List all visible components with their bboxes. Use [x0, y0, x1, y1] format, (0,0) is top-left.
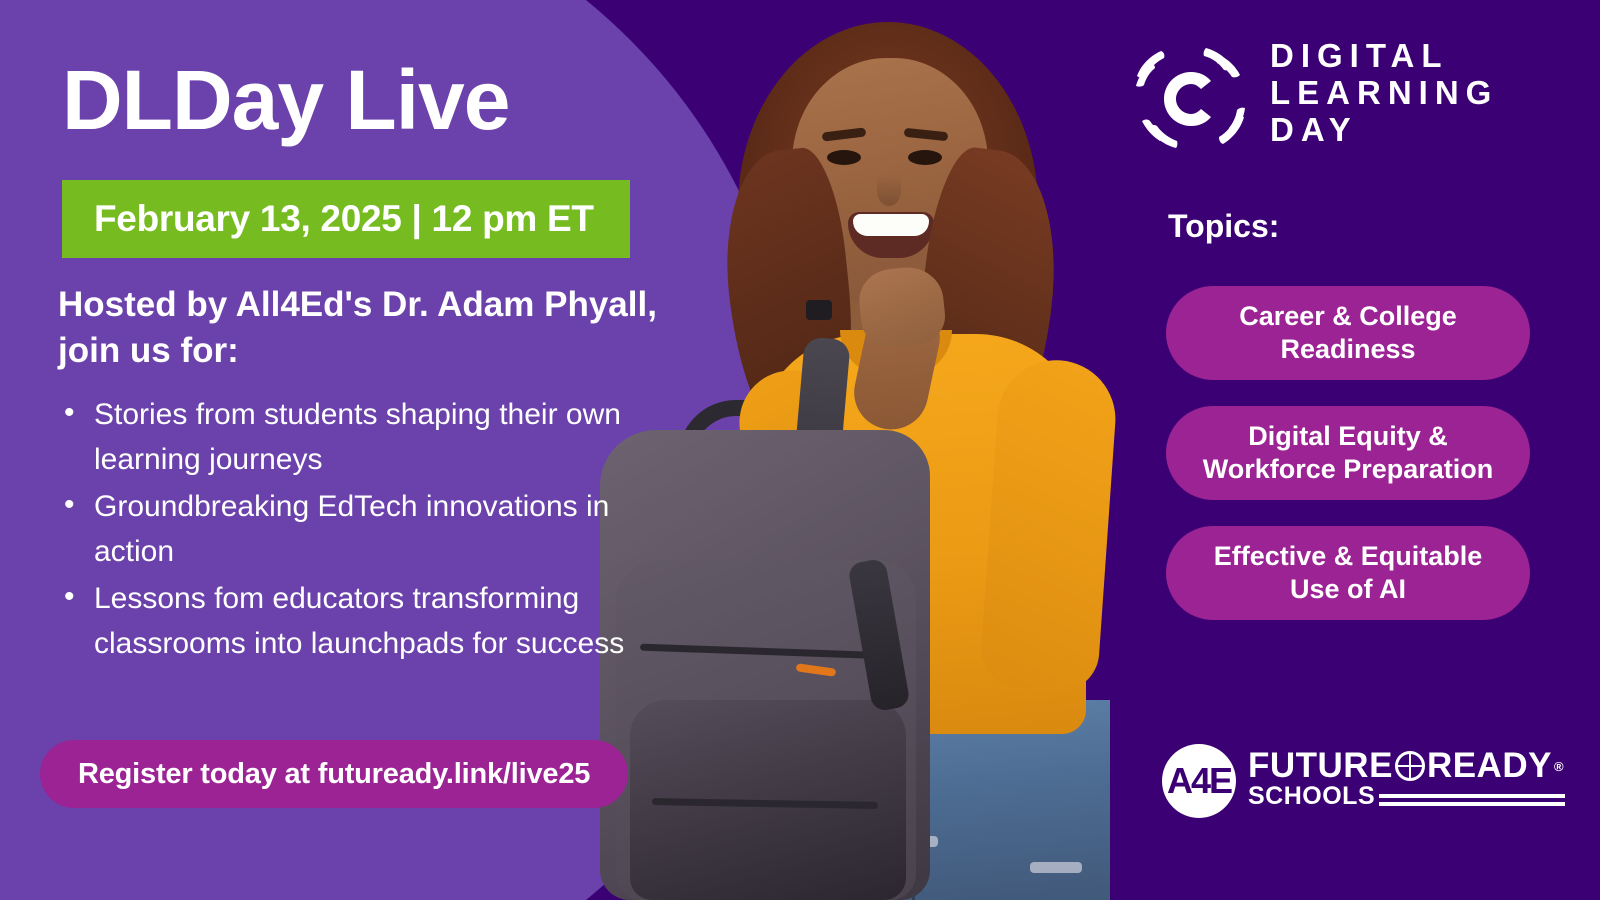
hosted-line-2: join us for:	[58, 328, 758, 374]
nose	[877, 176, 901, 206]
topic-pill-label: Career & College Readiness	[1166, 300, 1530, 366]
topic-pill-label: Effective & Equitable Use of AI	[1166, 540, 1530, 606]
eye-right	[908, 150, 942, 165]
promo-graphic: DLDay Live February 13, 2025 | 12 pm ET …	[0, 0, 1600, 900]
hosted-heading: Hosted by All4Ed's Dr. Adam Phyall, join…	[58, 282, 758, 373]
page-title: DLDay Live	[62, 58, 510, 142]
topic-pill-label: Digital Equity & Workforce Preparation	[1166, 420, 1530, 486]
schools-word: SCHOOLS	[1248, 782, 1375, 811]
date-banner: February 13, 2025 | 12 pm ET	[62, 180, 630, 258]
date-banner-text: February 13, 2025 | 12 pm ET	[94, 198, 594, 240]
future-ready-wordmark: FUTURE READY ® SCHOOLS	[1248, 746, 1565, 811]
backpack-buckle	[806, 300, 832, 320]
ready-word: READY	[1427, 746, 1552, 786]
future-ready-schools-logo: A4E FUTURE READY ® SCHOOLS	[1162, 738, 1542, 824]
all4ed-monogram-circle: A4E	[1162, 744, 1236, 818]
all4ed-monogram: A4E	[1162, 744, 1236, 818]
digital-learning-day-logo: DIGITAL LEARNING DAY	[1128, 30, 1548, 170]
bullet-list: Stories from students shaping their own …	[58, 392, 668, 668]
registered-trademark-mark: ®	[1554, 759, 1564, 774]
future-ready-bottom-line: SCHOOLS	[1248, 782, 1565, 811]
future-word: FUTURE	[1248, 746, 1393, 786]
future-ready-top-line: FUTURE READY ®	[1248, 746, 1565, 786]
topics-label: Topics:	[1168, 208, 1279, 245]
dld-line-1: DIGITAL	[1270, 38, 1498, 75]
dld-line-3: DAY	[1270, 112, 1498, 149]
digital-learning-day-wordmark: DIGITAL LEARNING DAY	[1270, 38, 1498, 149]
topic-pill-career-college-readiness[interactable]: Career & College Readiness	[1166, 286, 1530, 380]
list-item: Groundbreaking EdTech innovations in act…	[58, 484, 668, 574]
logo-rules	[1379, 790, 1565, 811]
dld-line-2: LEARNING	[1270, 75, 1498, 112]
globe-icon	[1395, 751, 1425, 781]
c-swirl-icon	[1128, 36, 1254, 162]
topic-pill-digital-equity-workforce[interactable]: Digital Equity & Workforce Preparation	[1166, 406, 1530, 500]
arm-right	[979, 356, 1120, 693]
register-cta-button[interactable]: Register today at futuready.link/live25	[40, 740, 628, 808]
list-item: Lessons fom educators transforming class…	[58, 576, 668, 666]
jeans-rip	[1030, 862, 1082, 873]
eye-left	[827, 150, 861, 165]
hosted-line-1: Hosted by All4Ed's Dr. Adam Phyall,	[58, 282, 758, 328]
list-item: Stories from students shaping their own …	[58, 392, 668, 482]
topic-pill-effective-equitable-ai[interactable]: Effective & Equitable Use of AI	[1166, 526, 1530, 620]
teeth	[853, 214, 929, 236]
register-cta-label: Register today at futuready.link/live25	[78, 758, 590, 791]
